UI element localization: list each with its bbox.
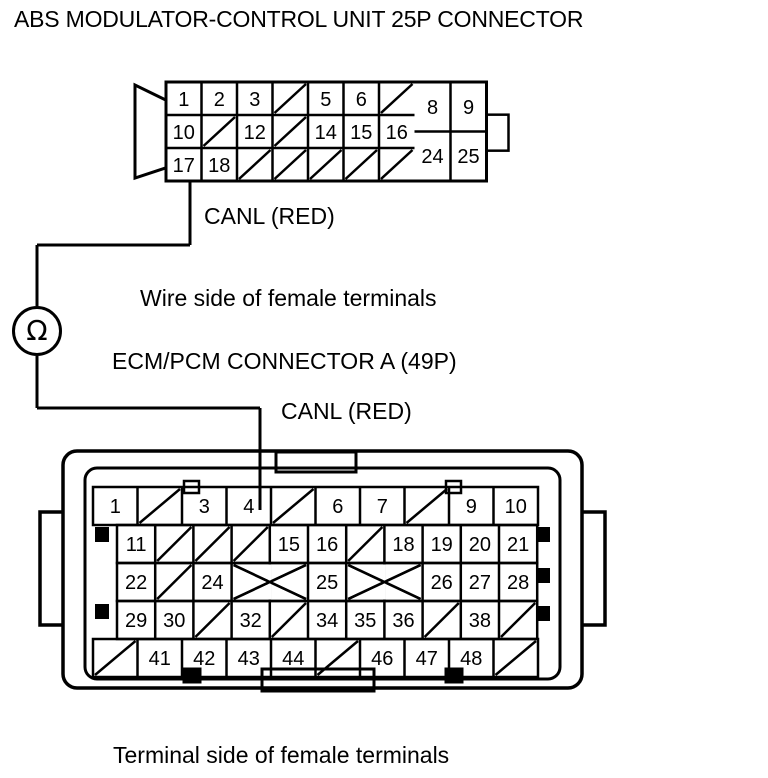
- pin-number: 48: [460, 649, 482, 669]
- label-terminal-side: Terminal side of female terminals: [113, 742, 449, 769]
- pin-number: 22: [125, 573, 147, 593]
- pin-number: 15: [278, 535, 300, 555]
- pin-number: 2: [214, 90, 225, 110]
- pin-number: 9: [463, 98, 474, 118]
- pin-number: 47: [416, 649, 438, 669]
- ohm-symbol: Ω: [26, 317, 47, 345]
- pin-number: 32: [240, 611, 262, 631]
- label-wire-side: Wire side of female terminals: [140, 285, 437, 312]
- label-canl-red-top: CANL (RED): [204, 203, 335, 230]
- pin-number: 34: [316, 611, 338, 631]
- pin-number: 24: [201, 573, 223, 593]
- pin-number: 38: [469, 611, 491, 631]
- pin-number: 25: [316, 573, 338, 593]
- pin-number: 29: [125, 611, 147, 631]
- pin-number: 24: [421, 147, 443, 167]
- pin-number: 17: [173, 156, 195, 176]
- pin-number: 14: [315, 123, 337, 143]
- pin-number: 20: [469, 535, 491, 555]
- pin-number: 42: [193, 649, 215, 669]
- pin-number: 21: [507, 535, 529, 555]
- pin-number: 8: [427, 98, 438, 118]
- pin-number: 1: [110, 497, 121, 517]
- pin-number: 10: [173, 123, 195, 143]
- pin-number: 28: [507, 573, 529, 593]
- pin-number: 15: [350, 123, 372, 143]
- pin-number: 25: [457, 147, 479, 167]
- pin-number: 46: [371, 649, 393, 669]
- pin-number: 36: [392, 611, 414, 631]
- pin-number: 11: [126, 535, 147, 555]
- pin-number: 7: [377, 497, 388, 517]
- pin-number: 10: [505, 497, 527, 517]
- pin-number: 18: [208, 156, 230, 176]
- pin-number: 35: [354, 611, 376, 631]
- pin-number: 18: [392, 535, 414, 555]
- pin-number: 44: [282, 649, 304, 669]
- pin-number: 12: [244, 123, 266, 143]
- pin-number: 16: [316, 535, 338, 555]
- pin-number: 43: [238, 649, 260, 669]
- pin-number: 6: [356, 90, 367, 110]
- pin-number: 19: [431, 535, 453, 555]
- diagram-canvas: ABS MODULATOR-CONTROL UNIT 25P CONNECTOR…: [0, 0, 768, 778]
- pin-number: 41: [149, 649, 171, 669]
- ohmmeter-icon: Ω: [12, 306, 62, 356]
- pin-number: 9: [466, 497, 477, 517]
- pin-number: 6: [332, 497, 343, 517]
- pin-number: 27: [469, 573, 491, 593]
- pin-number: 5: [320, 90, 331, 110]
- label-ecm-pcm-connector: ECM/PCM CONNECTOR A (49P): [112, 348, 457, 375]
- pin-number: 3: [249, 90, 260, 110]
- pin-number: 30: [163, 611, 185, 631]
- pin-number: 4: [243, 497, 254, 517]
- pin-number: 1: [178, 90, 189, 110]
- label-canl-red-bottom: CANL (RED): [281, 398, 412, 425]
- pin-number: 3: [199, 497, 210, 517]
- pin-number: 26: [431, 573, 453, 593]
- pin-number: 16: [386, 123, 408, 143]
